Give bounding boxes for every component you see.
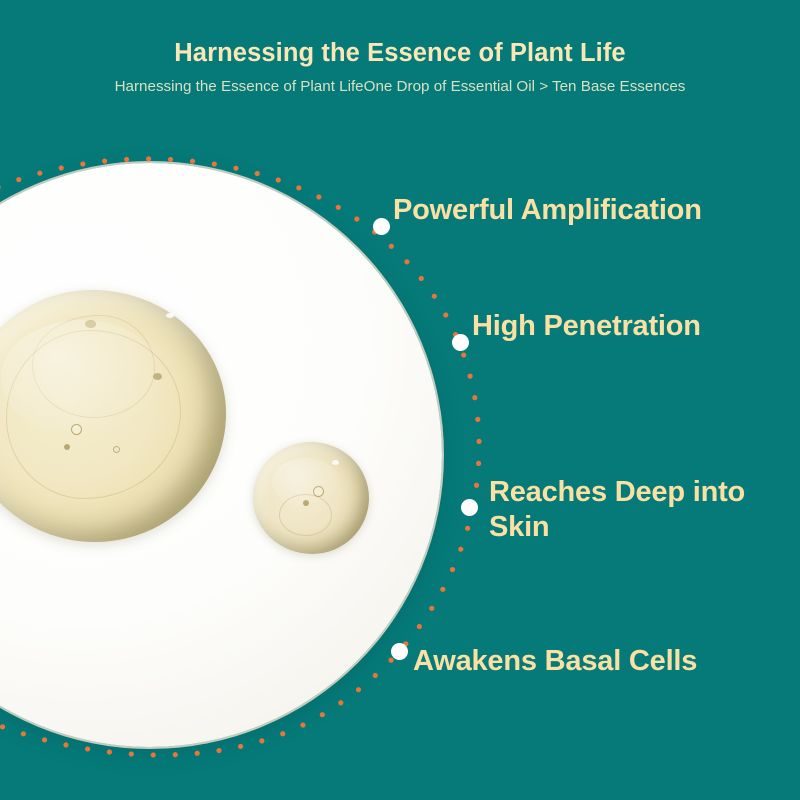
page-title: Harnessing the Essence of Plant Life: [0, 0, 800, 69]
feature-label: Powerful Amplification: [393, 193, 702, 228]
feature-marker-dot: [391, 643, 408, 660]
feature-label: Awakens Basal Cells: [413, 644, 697, 679]
feature-list: Powerful Amplification High Penetration …: [0, 0, 800, 800]
product-feature-poster: Harnessing the Essence of Plant Life Har…: [0, 0, 800, 800]
feature-label: High Penetration: [472, 309, 701, 344]
page-subtitle: Harnessing the Essence of Plant LifeOne …: [0, 69, 800, 96]
feature-marker-dot: [461, 499, 478, 516]
header: Harnessing the Essence of Plant Life Har…: [0, 0, 800, 96]
feature-marker-dot: [452, 334, 469, 351]
feature-marker-dot: [373, 218, 390, 235]
feature-item-powerful-amplification[interactable]: Powerful Amplification: [393, 193, 702, 228]
feature-item-high-penetration[interactable]: High Penetration: [472, 309, 701, 344]
feature-item-reaches-deep-into-skin[interactable]: Reaches Deep into Skin: [489, 475, 779, 546]
feature-item-awakens-basal-cells[interactable]: Awakens Basal Cells: [413, 644, 697, 679]
feature-label: Reaches Deep into Skin: [489, 475, 745, 546]
